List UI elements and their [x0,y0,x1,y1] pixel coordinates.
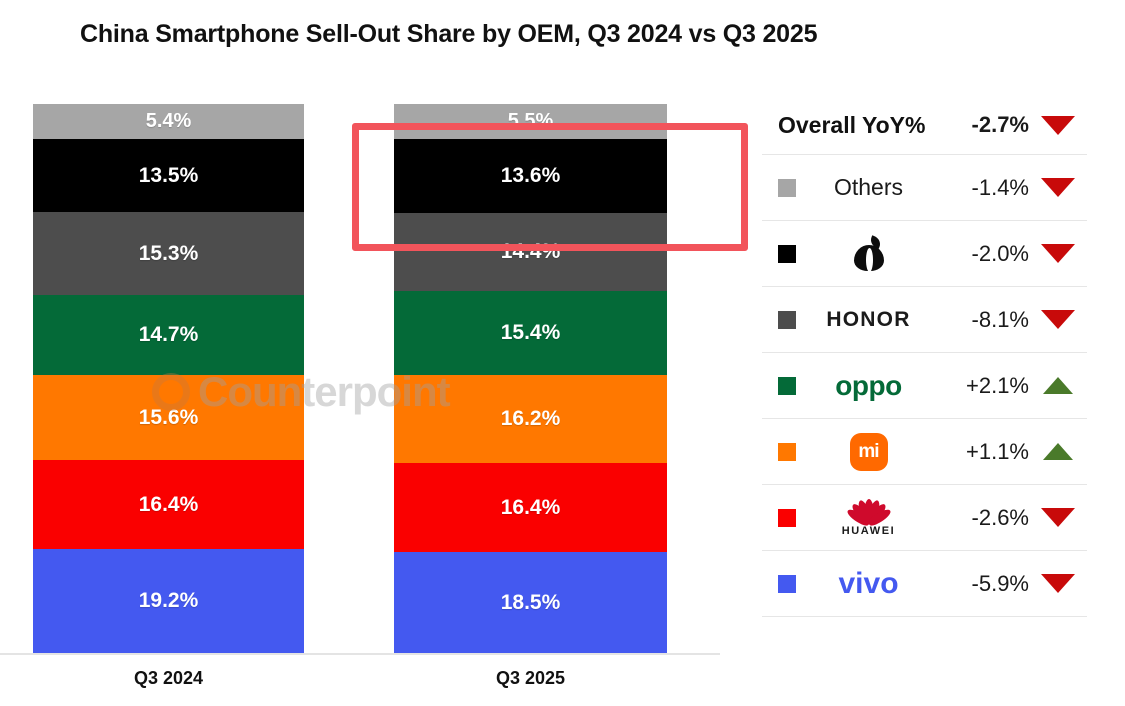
brand-mark-xiaomi: mi [796,433,947,471]
overall-yoy-label: Overall YoY% [778,112,947,139]
honor-wordmark-icon: HONOR [826,308,910,332]
overall-yoy-value: -2.7% [947,112,1029,138]
legend-swatch-others [778,179,796,197]
legend-swatch-apple [778,245,796,263]
segment-value-label: 15.6% [139,406,199,430]
legend-row-huawei[interactable]: HUAWEI -2.6% [762,485,1087,551]
segment-value-label: 15.3% [139,242,199,266]
trend-up-icon [1029,377,1087,394]
oppo-wordmark-icon: oppo [835,370,901,402]
brand-mark-others: Others [796,174,947,201]
chart-plot-area: 5.4% 13.5% 15.3% 14.7% 15.6% 16.4% 19.2%… [0,0,720,706]
xiaomi-mi-logo-icon: mi [850,433,888,471]
segment-value-label: 15.4% [501,321,561,345]
segment-value-label: 13.6% [501,164,561,188]
bar-segment-xiaomi[interactable]: 16.2% [394,375,667,463]
trend-down-icon [1029,310,1087,329]
legend-row-honor[interactable]: HONOR -8.1% [762,287,1087,353]
x-axis-tick-label-q3-2025: Q3 2025 [394,668,667,689]
bar-segment-honor[interactable]: 15.3% [33,212,304,295]
segment-value-label: 5.4% [146,110,192,133]
legend-value-vivo: -5.9% [947,571,1029,597]
bar-segment-oppo[interactable]: 14.7% [33,295,304,375]
segment-value-label: 14.7% [139,323,199,347]
bar-segment-vivo[interactable]: 19.2% [33,549,304,653]
legend-swatch-vivo [778,575,796,593]
trend-down-icon [1029,508,1087,527]
huawei-wordmark: HUAWEI [842,525,896,537]
legend-swatch-oppo [778,377,796,395]
segment-value-label: 13.5% [139,164,199,188]
trend-up-icon [1029,443,1087,460]
legend-row-others[interactable]: Others -1.4% [762,155,1087,221]
legend-value-apple: -2.0% [947,241,1029,267]
bar-segment-apple[interactable]: 13.5% [33,139,304,212]
trend-down-icon [1029,574,1087,593]
huawei-fan-icon [838,498,900,524]
legend-row-apple[interactable]: -2.0% [762,221,1087,287]
legend-panel: Overall YoY% -2.7% Others -1.4% -2.0% HO… [762,96,1087,617]
legend-row-vivo[interactable]: vivo -5.9% [762,551,1087,617]
bar-segment-huawei[interactable]: 16.4% [33,460,304,549]
legend-value-oppo: +2.1% [947,373,1029,399]
bar-segment-others[interactable]: 5.4% [33,104,304,139]
brand-mark-vivo: vivo [796,567,947,601]
legend-swatch-huawei [778,509,796,527]
bar-segment-others[interactable]: 5.5% [394,104,667,139]
brand-mark-honor: HONOR [796,308,947,332]
segment-value-label: 16.4% [139,493,199,517]
vivo-wordmark-icon: vivo [838,567,898,601]
legend-swatch-xiaomi [778,443,796,461]
huawei-logo-icon: HUAWEI [838,498,900,537]
bar-segment-apple[interactable]: 13.6% [394,139,667,213]
trend-down-icon [1029,116,1087,135]
legend-swatch-honor [778,311,796,329]
legend-row-xiaomi[interactable]: mi +1.1% [762,419,1087,485]
trend-down-icon [1029,178,1087,197]
segment-value-label: 19.2% [139,589,199,613]
bar-segment-honor[interactable]: 14.4% [394,213,667,291]
segment-value-label: 16.4% [501,496,561,520]
bar-segment-oppo[interactable]: 15.4% [394,291,667,375]
bar-segment-vivo[interactable]: 18.5% [394,552,667,653]
brand-mark-apple [796,237,947,271]
segment-value-label: 5.5% [508,110,554,133]
segment-value-label: 16.2% [501,407,561,431]
brand-mark-oppo: oppo [796,370,947,402]
legend-row-overall: Overall YoY% -2.7% [762,96,1087,155]
segment-value-label: 14.4% [501,240,561,264]
legend-value-xiaomi: +1.1% [947,439,1029,465]
brand-mark-huawei: HUAWEI [796,498,947,537]
x-axis-tick-label-q3-2024: Q3 2024 [33,668,304,689]
trend-down-icon [1029,244,1087,263]
legend-value-others: -1.4% [947,175,1029,201]
segment-value-label: 18.5% [501,591,561,615]
bar-segment-huawei[interactable]: 16.4% [394,463,667,552]
legend-value-huawei: -2.6% [947,505,1029,531]
x-axis-line [0,653,720,655]
legend-value-honor: -8.1% [947,307,1029,333]
legend-label-others: Others [834,174,903,201]
stacked-bar-q3-2024: 5.4% 13.5% 15.3% 14.7% 15.6% 16.4% 19.2% [33,104,304,653]
apple-logo-icon [854,237,884,271]
bar-segment-xiaomi[interactable]: 15.6% [33,375,304,460]
stacked-bar-q3-2025: 5.5% 13.6% 14.4% 15.4% 16.2% 16.4% 18.5% [394,104,667,653]
legend-row-oppo[interactable]: oppo +2.1% [762,353,1087,419]
